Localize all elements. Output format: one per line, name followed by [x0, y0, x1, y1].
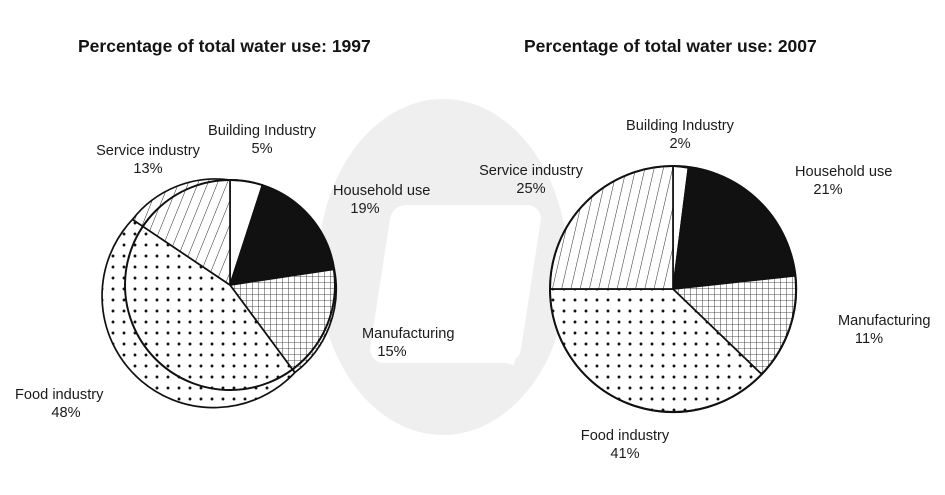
- water-use-pie-charts-figure: Percentage of total water use: 1997 Buil…: [0, 0, 945, 495]
- svg-text:21%: 21%: [813, 182, 842, 198]
- svg-text:Food industry: Food industry: [15, 387, 104, 403]
- svg-text:13%: 13%: [133, 161, 162, 177]
- svg-text:Household use: Household use: [795, 164, 892, 180]
- right-label-manufacturing: Manufacturing 11%: [838, 313, 930, 347]
- right-label-household-use: Household use 21%: [795, 164, 892, 198]
- svg-text:2%: 2%: [669, 136, 690, 152]
- svg-text:11%: 11%: [855, 331, 883, 347]
- svg-text:Service industry: Service industry: [96, 143, 201, 159]
- svg-text:5%: 5%: [251, 141, 272, 157]
- svg-text:41%: 41%: [610, 446, 639, 462]
- svg-text:Manufacturing: Manufacturing: [838, 313, 930, 329]
- background-watermark: [318, 99, 568, 435]
- svg-text:15%: 15%: [377, 344, 406, 360]
- svg-text:25%: 25%: [516, 181, 545, 197]
- svg-text:Service industry: Service industry: [479, 163, 584, 179]
- svg-text:19%: 19%: [350, 201, 379, 217]
- svg-text:Building Industry: Building Industry: [626, 118, 735, 134]
- right-slice-household-use[interactable]: [673, 168, 796, 289]
- left-chart-title: Percentage of total water use: 1997: [78, 36, 371, 56]
- right-label-food-industry: Food industry 41%: [581, 428, 670, 462]
- left-pie: [102, 179, 336, 408]
- right-label-building-industry: Building Industry 2%: [626, 118, 735, 152]
- svg-text:Food industry: Food industry: [581, 428, 670, 444]
- svg-text:Household use: Household use: [333, 183, 430, 199]
- left-label-building-industry: Building Industry 5%: [208, 123, 317, 157]
- right-pie: [550, 166, 796, 412]
- right-slice-service-industry[interactable]: [550, 166, 673, 289]
- svg-text:48%: 48%: [51, 405, 80, 421]
- left-label-food-industry: Food industry 48%: [15, 387, 104, 421]
- svg-text:Building Industry: Building Industry: [208, 123, 317, 139]
- left-label-service-industry: Service industry 13%: [96, 143, 201, 177]
- svg-text:Manufacturing: Manufacturing: [362, 326, 454, 342]
- right-chart-title: Percentage of total water use: 2007: [524, 36, 817, 56]
